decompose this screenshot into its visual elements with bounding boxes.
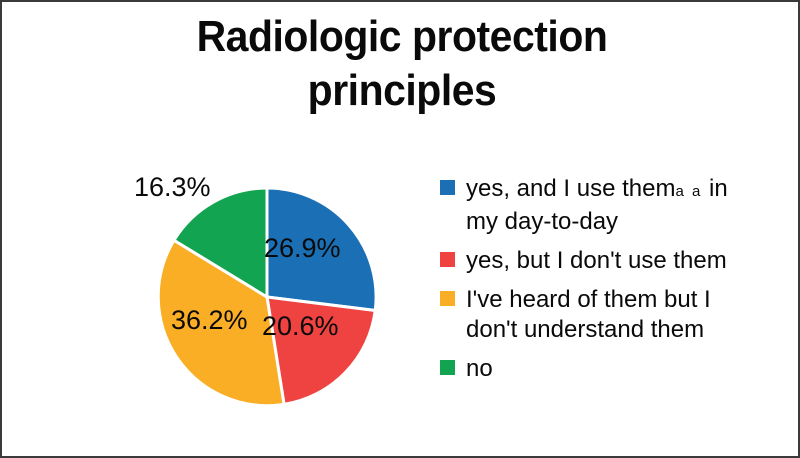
pie-label-blue: 26.9% xyxy=(264,235,341,262)
chart-figure: Radiologic protection principles 26.9% 2… xyxy=(0,0,800,458)
legend-item-yes-use[interactable]: yes, and I use thema a in my day-to-day xyxy=(440,174,785,237)
legend-item-yes-no-use[interactable]: yes, but I don't use them xyxy=(440,246,785,276)
legend-swatch-orange-icon xyxy=(440,291,455,306)
page-title: Radiologic protection principles xyxy=(30,10,774,118)
chart-legend: yes, and I use thema a in my day-to-day … xyxy=(440,174,785,393)
pie-label-red: 20.6% xyxy=(262,313,339,340)
legend-swatch-red-icon xyxy=(440,252,455,267)
legend-label-text: yes, and I use them xyxy=(466,175,675,202)
legend-item-no[interactable]: no xyxy=(440,354,785,384)
legend-label-artifact: a a xyxy=(675,183,702,200)
pie-chart: 26.9% 20.6% 36.2% 16.3% xyxy=(142,172,402,422)
legend-label-yes-no-use: yes, but I don't use them xyxy=(466,246,727,276)
legend-label-no: no xyxy=(466,354,493,384)
legend-label-heard-of: I've heard of them but I don't understan… xyxy=(466,285,766,345)
pie-chart-svg xyxy=(142,172,402,422)
pie-label-orange: 36.2% xyxy=(171,307,248,334)
legend-swatch-green-icon xyxy=(440,360,455,375)
pie-slices xyxy=(158,188,376,406)
legend-label-yes-use: yes, and I use thema a in my day-to-day xyxy=(466,174,766,237)
legend-item-heard-of[interactable]: I've heard of them but I don't understan… xyxy=(440,285,785,345)
legend-swatch-blue-icon xyxy=(440,180,455,195)
pie-label-green: 16.3% xyxy=(134,174,211,201)
